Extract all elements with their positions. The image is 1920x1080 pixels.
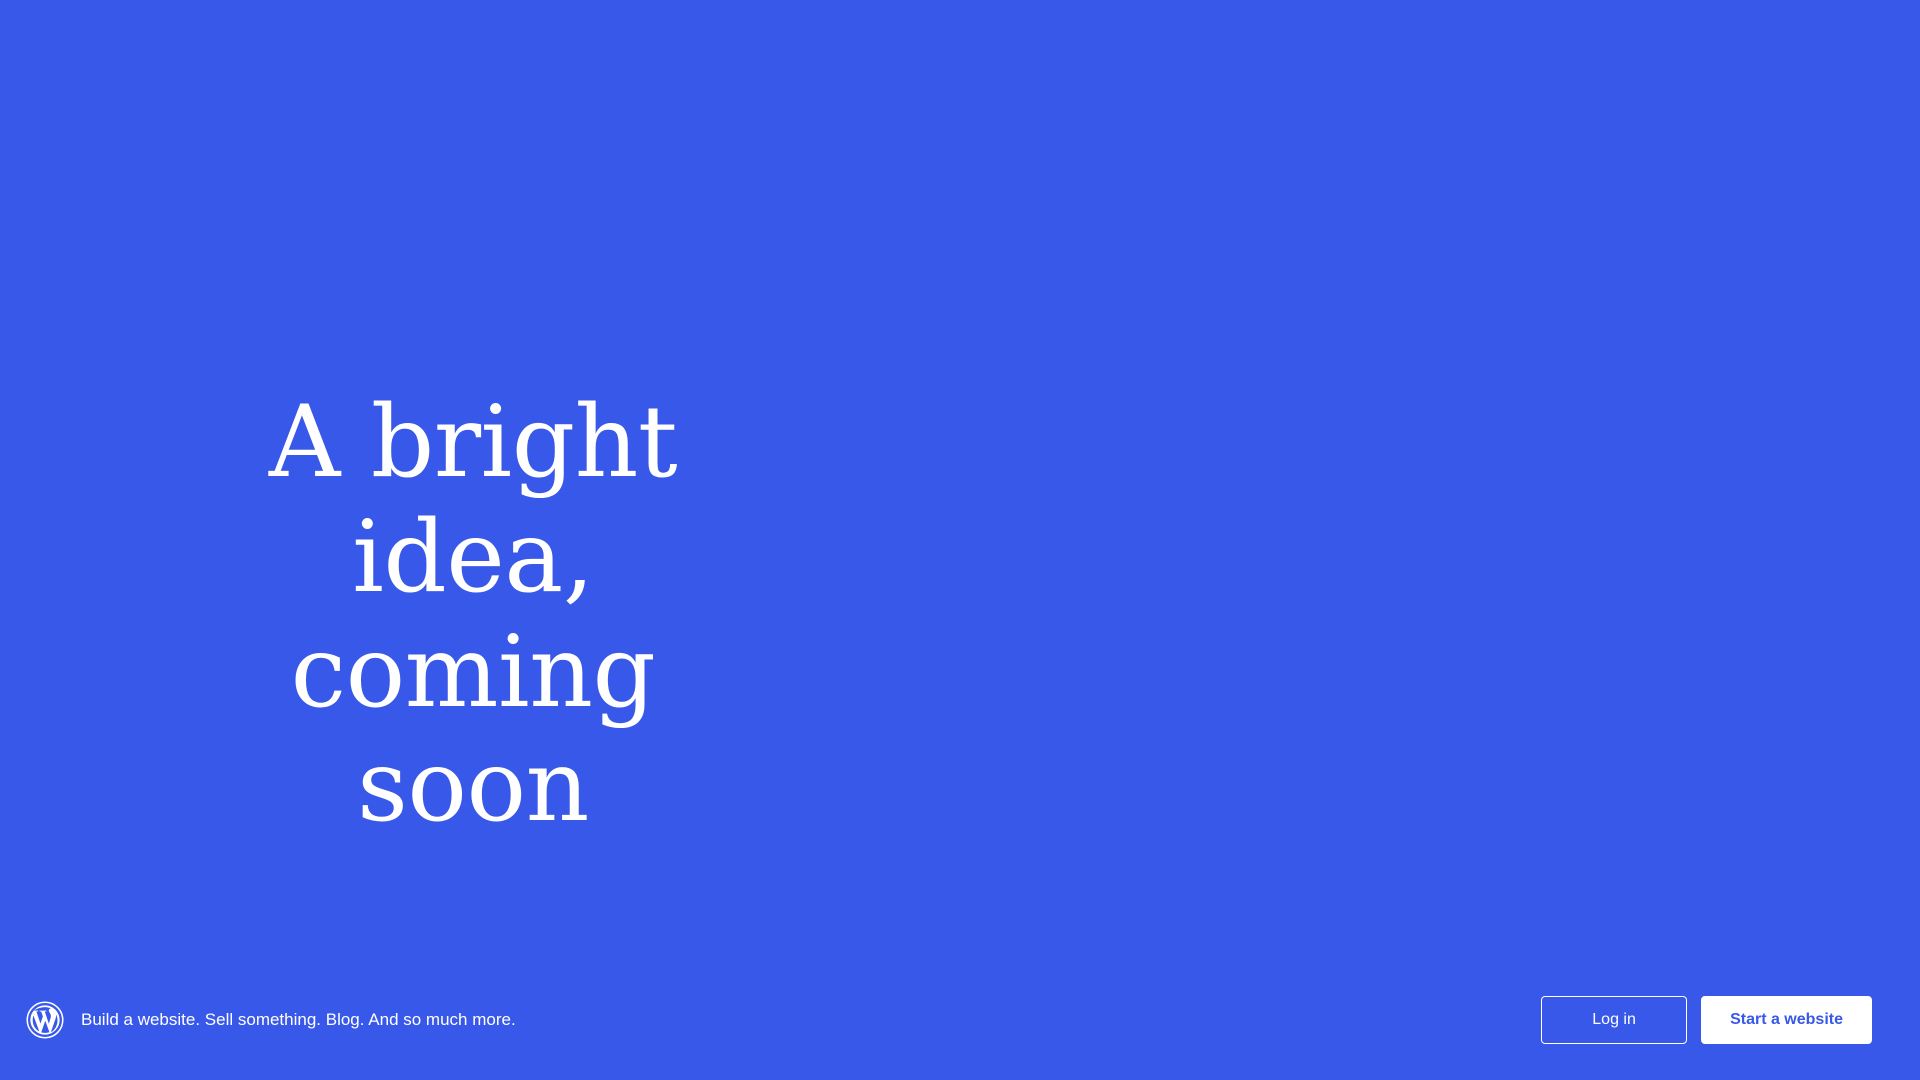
hero-section: A bright idea, coming soon xyxy=(0,0,1920,1080)
footer-branding: Build a website. Sell something. Blog. A… xyxy=(26,1001,516,1039)
page-title: A bright idea, coming soon xyxy=(188,386,758,845)
footer-tagline: Build a website. Sell something. Blog. A… xyxy=(81,1009,516,1031)
log-in-button[interactable]: Log in xyxy=(1541,996,1687,1044)
coming-soon-page: A bright idea, coming soon Build a websi… xyxy=(0,0,1920,1080)
hero-content: A bright idea, coming soon xyxy=(188,386,758,845)
wordpress-logo-icon xyxy=(26,1001,64,1039)
start-a-website-button[interactable]: Start a website xyxy=(1701,996,1872,1044)
footer-bar: Build a website. Sell something. Blog. A… xyxy=(0,960,1920,1080)
footer-actions: Log in Start a website xyxy=(1541,996,1872,1044)
